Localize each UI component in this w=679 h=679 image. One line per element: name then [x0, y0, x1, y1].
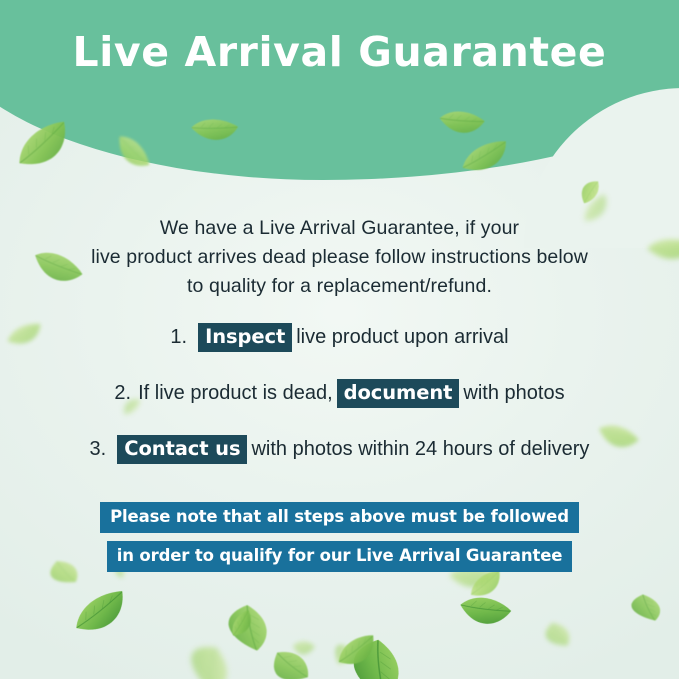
note-bar-line-2: in order to qualify for our Live Arrival… — [107, 541, 573, 572]
note-bar-line-1: Please note that all steps above must be… — [100, 502, 579, 533]
leaf-icon — [454, 587, 515, 638]
leaf-icon — [225, 607, 260, 642]
step-post-text: live product upon arrival — [296, 320, 508, 354]
step-highlight-chip: document — [337, 379, 460, 408]
leaf-icon — [538, 620, 571, 650]
poster-canvas: Live Arrival Guarantee We have a Live Ar… — [0, 0, 679, 679]
leaf-icon — [260, 642, 313, 679]
intro-line-2: live product arrives dead please follow … — [0, 243, 679, 272]
intro-line-1: We have a Live Arrival Guarantee, if you… — [0, 214, 679, 243]
step-item: 1. Inspect live product upon arrival — [0, 320, 679, 354]
page-title: Live Arrival Guarantee — [0, 28, 679, 76]
leaf-icon — [623, 592, 664, 622]
step-post-text: with photos — [463, 376, 564, 410]
intro-line-3: to quality for a replacement/refund. — [0, 272, 679, 301]
step-post-text: with photos within 24 hours of delivery — [251, 432, 589, 466]
steps-list: 1. Inspect live product upon arrival 2. … — [0, 320, 679, 488]
step-highlight-chip: Contact us — [117, 435, 247, 464]
leaf-icon — [290, 637, 317, 661]
step-number: 2. — [114, 376, 131, 410]
step-item: 2. If live product is dead, document wit… — [0, 376, 679, 410]
leaf-icon — [334, 630, 410, 679]
intro-paragraph: We have a Live Arrival Guarantee, if you… — [0, 214, 679, 301]
step-highlight-chip: Inspect — [198, 323, 292, 352]
leaf-icon — [67, 585, 137, 644]
leaf-icon — [332, 631, 384, 675]
leaf-icon — [172, 631, 241, 679]
note-bars: Please note that all steps above must be… — [0, 502, 679, 580]
leaf-icon — [327, 637, 355, 667]
step-item: 3. Contact us with photos within 24 hour… — [0, 432, 679, 466]
step-pre-text: If live product is dead, — [138, 376, 333, 410]
step-number: 3. — [90, 432, 107, 466]
leaf-icon — [213, 598, 274, 653]
step-number: 1. — [170, 320, 187, 354]
